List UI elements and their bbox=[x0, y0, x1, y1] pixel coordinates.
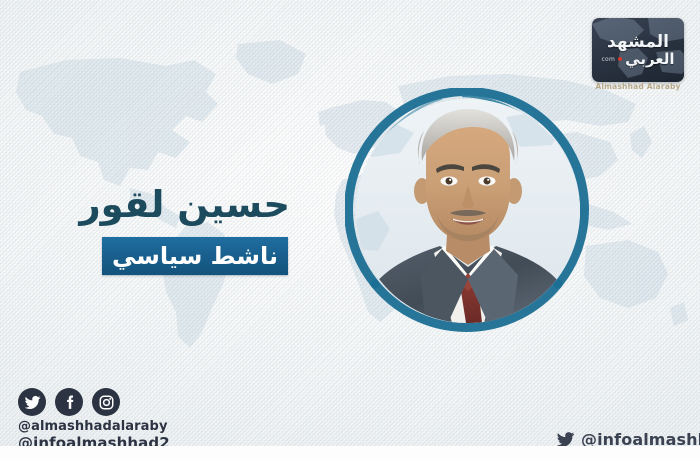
guest-name: حسين لقور bbox=[0, 186, 290, 223]
facebook-icon[interactable] bbox=[55, 388, 83, 416]
twitter-icon[interactable] bbox=[18, 388, 46, 416]
logo-com-label: com bbox=[601, 56, 615, 63]
channel-logo[interactable]: المشهد com العربي bbox=[592, 18, 684, 82]
logo-arabic-top: المشهد bbox=[607, 34, 669, 51]
social-handle-primary[interactable]: @almashhadalaraby bbox=[18, 419, 168, 434]
logo-arabic-bottom: العربي bbox=[625, 52, 674, 67]
guest-role-banner: ناشط سياسي bbox=[102, 237, 288, 275]
bottom-white-strip bbox=[0, 446, 700, 459]
guest-role-label: ناشط سياسي bbox=[112, 244, 278, 268]
social-icon-row bbox=[18, 388, 120, 416]
logo-caption: Almashhad Alaraby bbox=[592, 82, 684, 91]
logo-red-dot bbox=[618, 57, 622, 61]
guest-photo bbox=[356, 99, 580, 323]
guest-card: المشهد com العربي Almashhad Alaraby bbox=[0, 0, 700, 459]
guest-portrait bbox=[345, 88, 591, 334]
instagram-icon[interactable] bbox=[92, 388, 120, 416]
